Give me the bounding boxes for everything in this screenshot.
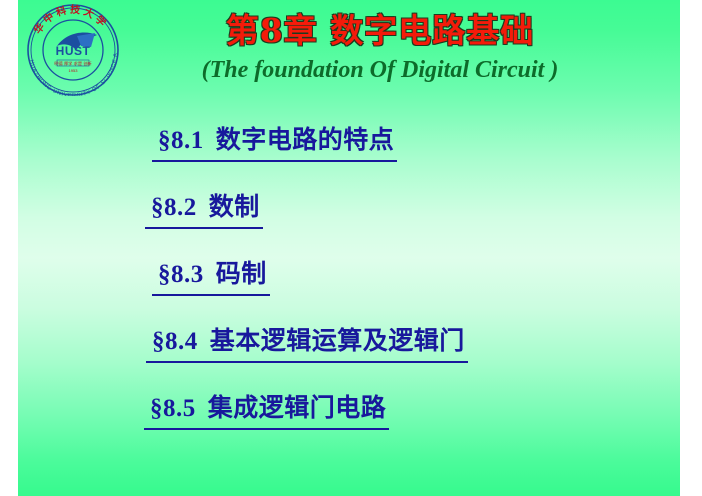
toc-section-number: §8.3 xyxy=(158,261,204,288)
slide-subtitle: (The foundation Of Digital Circuit ) xyxy=(130,54,630,86)
toc-section-number: §8.4 xyxy=(152,328,198,355)
list-item: §8.3码制 xyxy=(0,257,702,324)
list-item: §8.2数制 xyxy=(0,190,702,257)
toc-link-8-2[interactable]: §8.2数制 xyxy=(145,190,263,229)
toc-section-label: 基本逻辑运算及逻辑门 xyxy=(210,326,465,355)
table-of-contents: §8.1数字电路的特点 §8.2数制 §8.3码制 §8.4基本逻辑运算及逻辑门… xyxy=(0,123,702,458)
list-item: §8.1数字电路的特点 xyxy=(0,123,702,190)
toc-section-number: §8.5 xyxy=(150,395,196,422)
toc-link-8-1[interactable]: §8.1数字电路的特点 xyxy=(152,123,397,162)
list-item: §8.4基本逻辑运算及逻辑门 xyxy=(0,324,702,391)
toc-section-label: 数字电路的特点 xyxy=(216,125,395,154)
slide-main-title: 第8章 数字电路基础 xyxy=(130,10,630,52)
toc-section-label: 集成逻辑门电路 xyxy=(208,393,387,422)
toc-section-number: §8.2 xyxy=(151,194,197,221)
toc-section-label: 码制 xyxy=(216,259,267,288)
title-block: 第8章 数字电路基础 (The foundation Of Digital Ci… xyxy=(130,10,630,86)
presentation-slide: 华中科技大学 HUAZHONG UNIVERSITY OF SCIENCE AN… xyxy=(0,0,702,496)
svg-text:HUST: HUST xyxy=(56,44,91,58)
svg-text:明德 厚学 求是 创新: 明德 厚学 求是 创新 xyxy=(54,60,92,67)
toc-link-8-5[interactable]: §8.5集成逻辑门电路 xyxy=(144,391,389,430)
toc-section-label: 数制 xyxy=(209,192,260,221)
list-item: §8.5集成逻辑门电路 xyxy=(0,391,702,458)
toc-link-8-3[interactable]: §8.3码制 xyxy=(152,257,270,296)
toc-section-number: §8.1 xyxy=(158,127,204,154)
svg-text:1953: 1953 xyxy=(69,68,79,73)
toc-link-8-4[interactable]: §8.4基本逻辑运算及逻辑门 xyxy=(146,324,468,363)
hust-university-seal-logo: 华中科技大学 HUAZHONG UNIVERSITY OF SCIENCE AN… xyxy=(21,2,125,96)
